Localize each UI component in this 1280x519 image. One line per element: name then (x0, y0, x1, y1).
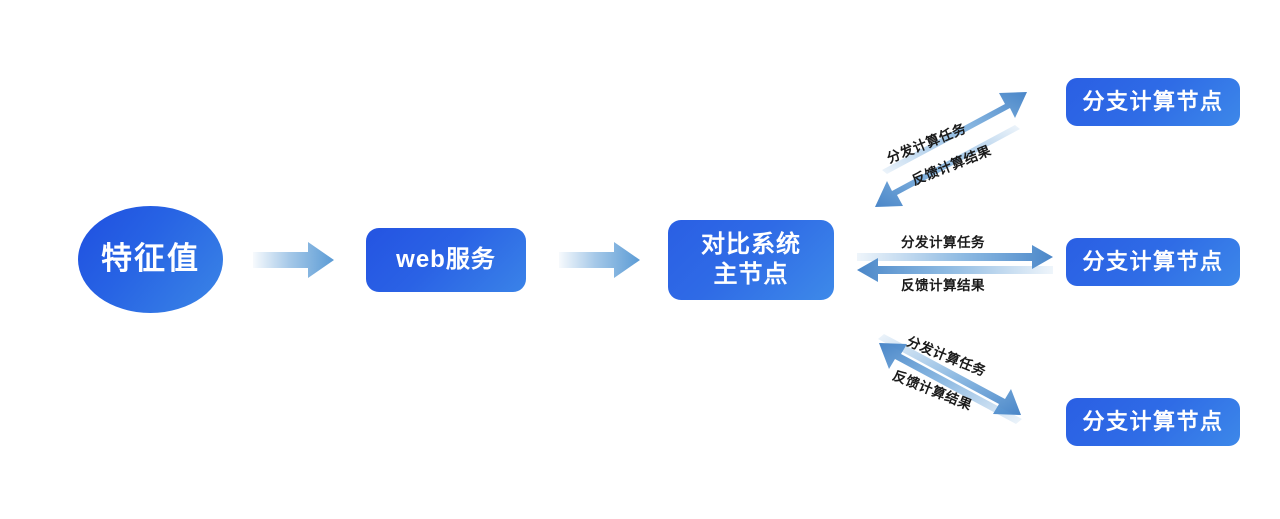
node-feature-value[interactable]: 特征值 (78, 206, 223, 313)
node-branch-compute-2-label: 分支计算节点 (1082, 248, 1223, 276)
arrow-web-to-main (559, 242, 640, 278)
node-branch-compute-1-label: 分支计算节点 (1082, 88, 1223, 116)
node-branch-compute-3-label: 分支计算节点 (1082, 408, 1223, 436)
arrow-feature-to-web (253, 242, 334, 278)
node-feature-value-label: 特征值 (101, 240, 200, 279)
node-web-service-label: web服务 (396, 245, 496, 275)
edge-label-feedback-branch-2: 反馈计算结果 (901, 274, 985, 294)
node-main-label-line2: 主节点 (714, 260, 789, 290)
node-web-service[interactable]: web服务 (366, 228, 526, 292)
node-main-label-line1: 对比系统 (701, 230, 801, 260)
node-branch-compute-1[interactable]: 分支计算节点 (1066, 78, 1240, 126)
node-branch-compute-2[interactable]: 分支计算节点 (1066, 238, 1240, 286)
edge-label-dispatch-branch-2: 分发计算任务 (901, 231, 985, 251)
node-branch-compute-3[interactable]: 分支计算节点 (1066, 398, 1240, 446)
node-main-comparison-system[interactable]: 对比系统 主节点 (668, 220, 834, 300)
